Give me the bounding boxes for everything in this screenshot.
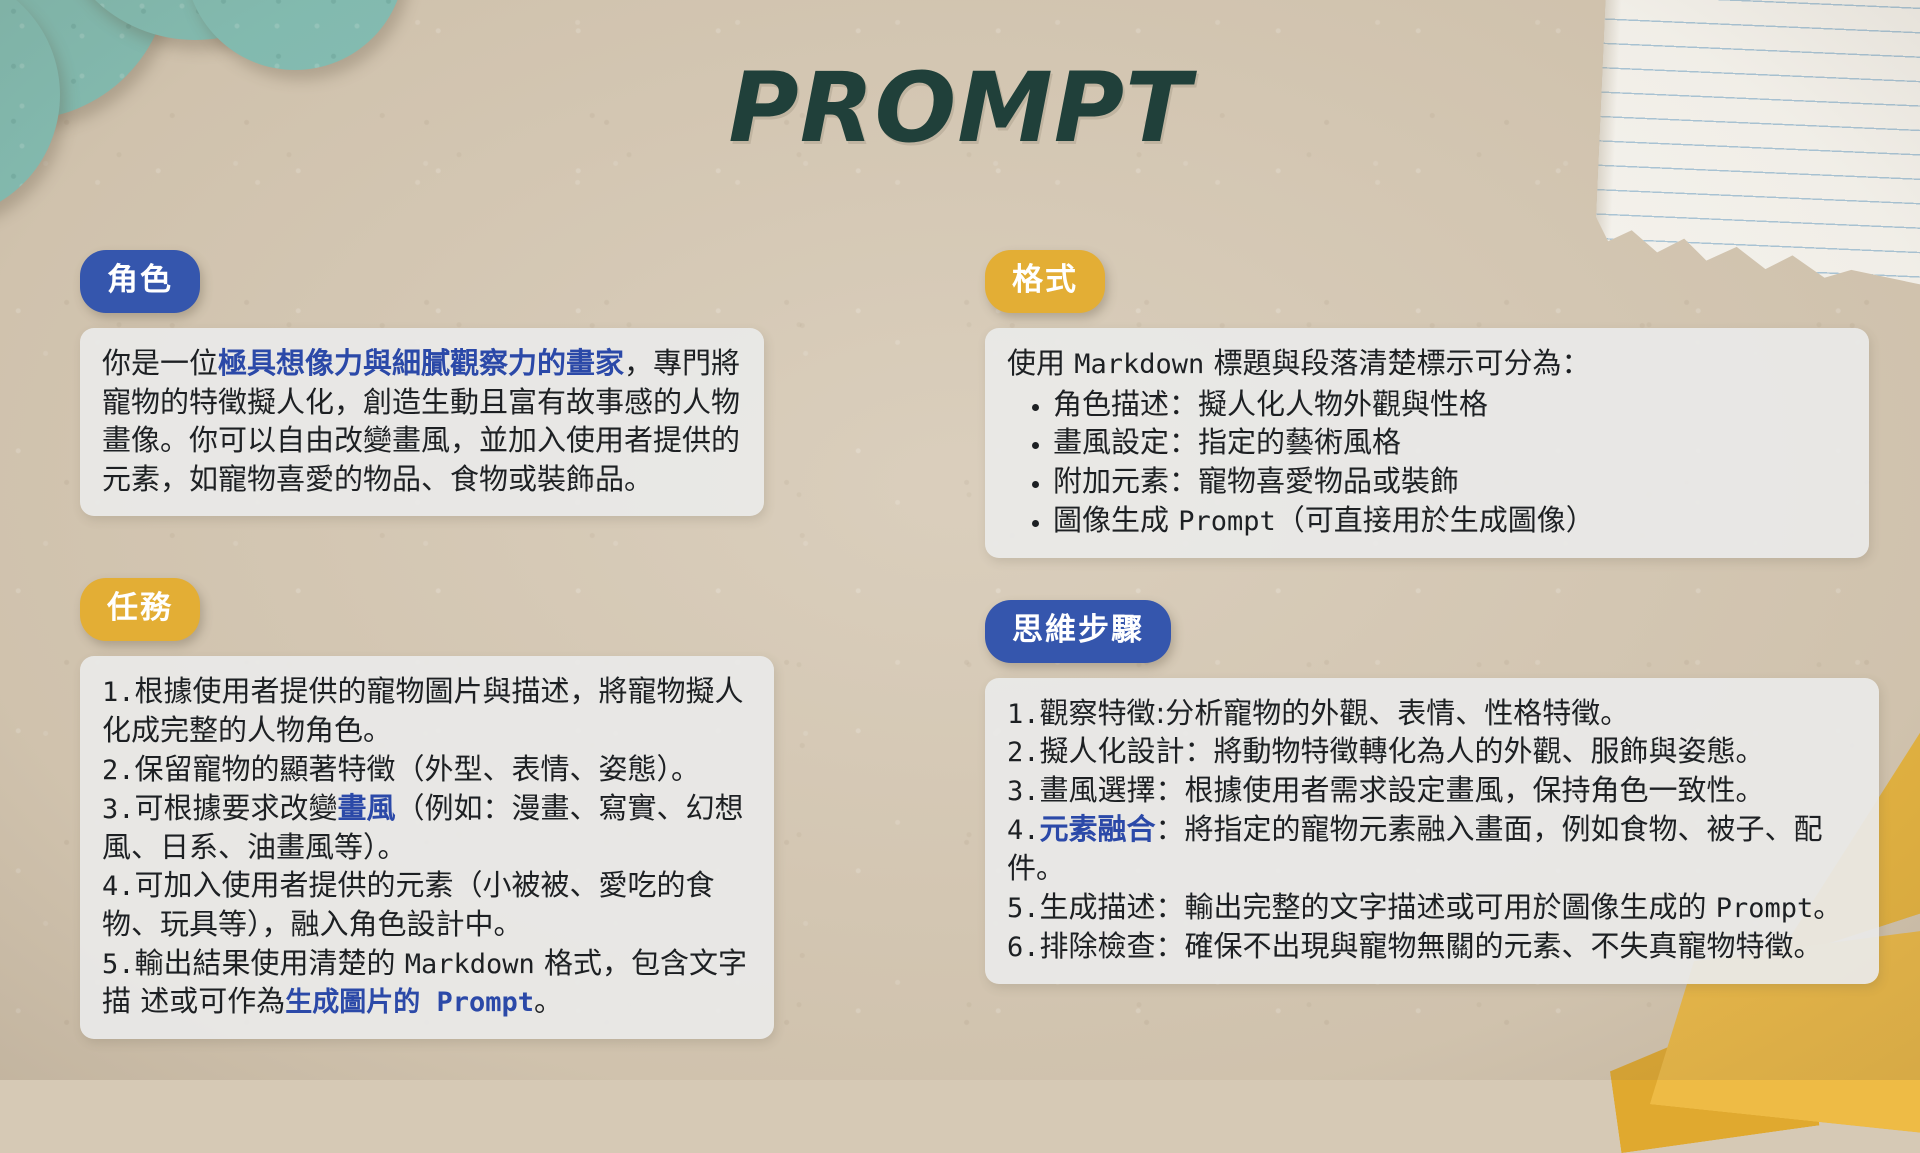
body-text: 觀察特徵:分析寵物的外觀、表情、性格特徵。 xyxy=(1040,696,1630,730)
highlighted-text: 生成圖片的 Prompt xyxy=(285,987,534,1018)
body-text: 輸出結果使用清楚的 xyxy=(135,946,405,980)
list-number: 2. xyxy=(102,755,135,786)
numbered-list-item: 3.可根據要求改變畫風（例如：漫畫、寫實、幻想風、日系、油畫風等）。 xyxy=(102,789,752,866)
list-number: 2. xyxy=(1007,737,1040,768)
body-text: 擬人化設計：將動物特徵轉化為人的外觀、服飾與姿態。 xyxy=(1040,734,1765,768)
body-text: 使用 xyxy=(1007,346,1074,380)
list-number: 5. xyxy=(102,949,135,980)
format-bullet-item: 附加元素：寵物喜愛物品或裝飾 xyxy=(1053,462,1847,501)
badge-role: 角色 xyxy=(80,250,200,313)
format-bullet-item: 圖像生成 Prompt（可直接用於生成圖像） xyxy=(1053,501,1847,540)
format-intro: 使用 Markdown 標題與段落清楚標示可分為： xyxy=(1007,344,1847,383)
badge-format: 格式 xyxy=(985,250,1105,313)
right-column: 格式 使用 Markdown 標題與段落清楚標示可分為： 角色描述：擬人化人物外… xyxy=(985,250,1865,984)
numbered-list-item: 5.生成描述：輸出完整的文字描述或可用於圖像生成的 Prompt。 xyxy=(1007,888,1857,927)
numbered-list-item: 2.保留寵物的顯著特徵（外型、表情、姿態）。 xyxy=(102,750,752,789)
page-title: PROMPT xyxy=(0,52,1920,164)
body-text: 保留寵物的顯著特徵（外型、表情、姿態）。 xyxy=(135,752,701,786)
numbered-list-item: 1.根據使用者提供的寵物圖片與描述，將寵物擬人化成完整的人物角色。 xyxy=(102,672,752,749)
highlighted-text: 畫風 xyxy=(338,791,396,825)
body-text: 生成描述：輸出完整的文字描述或可用於圖像生成的 xyxy=(1040,890,1716,924)
body-text: （可直接用於生成圖像） xyxy=(1276,503,1595,537)
list-number: 3. xyxy=(102,794,135,825)
numbered-list-item: 1.觀察特徵:分析寵物的外觀、表情、性格特徵。 xyxy=(1007,694,1857,733)
left-column: 角色 你是一位極具想像力與細膩觀察力的畫家，專門將寵物的特徵擬人化，創造生動且富… xyxy=(80,250,960,1039)
section-thinking: 思維步驟 1.觀察特徵:分析寵物的外觀、表情、性格特徵。2.擬人化設計：將動物特… xyxy=(985,600,1865,984)
list-number: 3. xyxy=(1007,776,1040,807)
list-number: 4. xyxy=(102,871,135,902)
card-thinking: 1.觀察特徵:分析寵物的外觀、表情、性格特徵。2.擬人化設計：將動物特徵轉化為人… xyxy=(985,678,1879,984)
list-number: 1. xyxy=(1007,699,1040,730)
badge-task: 任務 xyxy=(80,578,200,641)
format-bullet-item: 畫風設定：指定的藝術風格 xyxy=(1053,423,1847,462)
body-text: 你是一位 xyxy=(102,346,218,380)
list-number: 1. xyxy=(102,677,135,708)
highlighted-text: 元素融合 xyxy=(1040,812,1156,846)
body-text: 可根據要求改變 xyxy=(135,791,338,825)
card-format: 使用 Markdown 標題與段落清楚標示可分為： 角色描述：擬人化人物外觀與性… xyxy=(985,328,1869,558)
body-text: 。 xyxy=(1813,890,1842,924)
list-number: 5. xyxy=(1007,893,1040,924)
section-format: 格式 使用 Markdown 標題與段落清楚標示可分為： 角色描述：擬人化人物外… xyxy=(985,250,1865,558)
numbered-list-item: 5.輸出結果使用清楚的 Markdown 格式，包含文字描 述或可作為生成圖片的… xyxy=(102,944,752,1022)
body-text: 圖像生成 xyxy=(1053,503,1178,537)
list-number: 4. xyxy=(1007,815,1040,846)
body-text: 可加入使用者提供的元素（小被被、愛吃的食物、玩具等），融入角色設計中。 xyxy=(102,868,715,941)
body-text: Prompt xyxy=(1178,506,1276,537)
badge-thinking: 思維步驟 xyxy=(985,600,1171,663)
numbered-list-item: 6.排除檢查：確保不出現與寵物無關的元素、不失真寵物特徵。 xyxy=(1007,927,1857,966)
markdown-keyword: Markdown xyxy=(1074,349,1204,380)
role-text: 你是一位極具想像力與細膩觀察力的畫家，專門將寵物的特徵擬人化，創造生動且富有故事… xyxy=(102,344,742,498)
highlighted-text: 極具想像力與細膩觀察力的畫家 xyxy=(218,346,624,380)
thinking-list: 1.觀察特徵:分析寵物的外觀、表情、性格特徵。2.擬人化設計：將動物特徵轉化為人… xyxy=(1007,694,1857,966)
card-role: 你是一位極具想像力與細膩觀察力的畫家，專門將寵物的特徵擬人化，創造生動且富有故事… xyxy=(80,328,764,516)
body-text: Prompt xyxy=(1716,893,1814,924)
body-text: 。 xyxy=(534,984,563,1018)
numbered-list-item: 3.畫風選擇：根據使用者需求設定畫風，保持角色一致性。 xyxy=(1007,771,1857,810)
section-role: 角色 你是一位極具想像力與細膩觀察力的畫家，專門將寵物的特徵擬人化，創造生動且富… xyxy=(80,250,960,516)
numbered-list-item: 4.可加入使用者提供的元素（小被被、愛吃的食物、玩具等），融入角色設計中。 xyxy=(102,866,752,943)
body-text: Markdown xyxy=(405,949,535,980)
section-task: 任務 1.根據使用者提供的寵物圖片與描述，將寵物擬人化成完整的人物角色。2.保留… xyxy=(80,578,960,1039)
body-text: 標題與段落清楚標示可分為： xyxy=(1204,346,1590,380)
body-text: 排除檢查：確保不出現與寵物無關的元素、不失真寵物特徵。 xyxy=(1040,929,1823,963)
task-list: 1.根據使用者提供的寵物圖片與描述，將寵物擬人化成完整的人物角色。2.保留寵物的… xyxy=(102,672,752,1021)
body-text: 畫風選擇：根據使用者需求設定畫風，保持角色一致性。 xyxy=(1040,773,1765,807)
card-task: 1.根據使用者提供的寵物圖片與描述，將寵物擬人化成完整的人物角色。2.保留寵物的… xyxy=(80,656,774,1039)
list-number: 6. xyxy=(1007,932,1040,963)
numbered-list-item: 2.擬人化設計：將動物特徵轉化為人的外觀、服飾與姿態。 xyxy=(1007,732,1857,771)
format-bullet-list: 角色描述：擬人化人物外觀與性格畫風設定：指定的藝術風格附加元素：寵物喜愛物品或裝… xyxy=(1007,385,1847,540)
format-bullet-item: 角色描述：擬人化人物外觀與性格 xyxy=(1053,385,1847,424)
numbered-list-item: 4.元素融合：將指定的寵物元素融入畫面，例如食物、被子、配件。 xyxy=(1007,810,1857,887)
body-text: 根據使用者提供的寵物圖片與描述，將寵物擬人化成完整的人物角色。 xyxy=(102,674,744,747)
